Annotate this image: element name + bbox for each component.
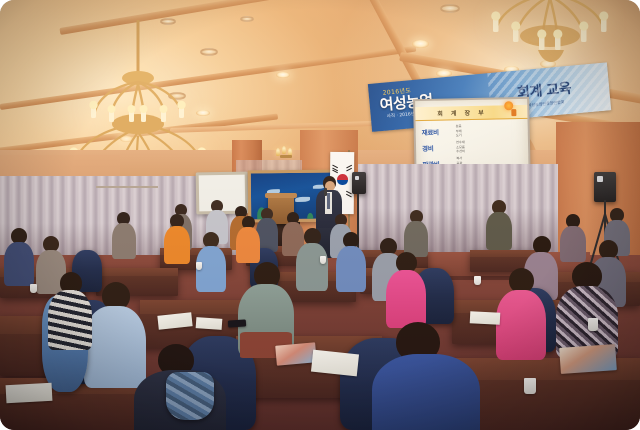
handout-paper bbox=[470, 311, 501, 325]
attendee-orange-top bbox=[236, 216, 260, 260]
attendee-pink-jacket bbox=[496, 268, 546, 356]
curtain-rail bbox=[96, 186, 158, 188]
attendee-patterned-blouse bbox=[556, 262, 618, 354]
slide-row-label: 재료비 bbox=[422, 127, 439, 137]
paper-cup bbox=[588, 318, 598, 331]
recessed-light bbox=[276, 72, 290, 78]
brochure bbox=[559, 344, 617, 374]
slide-row-items: 연수재 소모품 수선비 bbox=[456, 140, 465, 154]
attendee bbox=[404, 210, 428, 254]
slide-row-label: 경비 bbox=[422, 143, 434, 153]
attendee bbox=[4, 228, 34, 284]
audio-speaker-left bbox=[352, 172, 366, 194]
paper-cup bbox=[30, 284, 37, 293]
slide-row-items: 원료 부재 도기 bbox=[456, 124, 462, 138]
paper-cup bbox=[196, 262, 202, 270]
microphone bbox=[324, 188, 327, 196]
handout-paper bbox=[6, 383, 53, 403]
presenter-necktie bbox=[327, 193, 330, 209]
recessed-light bbox=[412, 40, 429, 48]
notebook-page bbox=[196, 317, 223, 330]
handbag bbox=[166, 372, 214, 420]
attendee bbox=[112, 212, 136, 256]
handout-paper bbox=[311, 350, 359, 377]
brochure bbox=[275, 342, 317, 365]
attendee bbox=[336, 232, 366, 290]
farmer-graphic-icon bbox=[511, 109, 516, 116]
seminar-room-photograph: 2016년도 여성농업 사직 · 2016년 5월 회계 교육 한국여성농업인중… bbox=[0, 0, 640, 430]
slide-title: 회 계 장 부 bbox=[437, 108, 487, 118]
attendee-orange-top bbox=[164, 214, 190, 262]
attendee bbox=[196, 232, 226, 290]
attendee bbox=[486, 200, 512, 248]
attendee-green-vest bbox=[238, 262, 294, 352]
paper-cup bbox=[320, 256, 326, 264]
smartphone bbox=[228, 319, 246, 327]
attendee-blue-jacket bbox=[372, 322, 480, 430]
audio-speaker-right bbox=[594, 172, 616, 202]
attendee-striped-top bbox=[48, 272, 92, 348]
paper-cup bbox=[474, 276, 481, 285]
attendee bbox=[560, 214, 586, 260]
wall-sconce-light bbox=[276, 146, 296, 158]
attendee-pink-jacket bbox=[386, 252, 426, 324]
paper-cup bbox=[524, 378, 536, 394]
